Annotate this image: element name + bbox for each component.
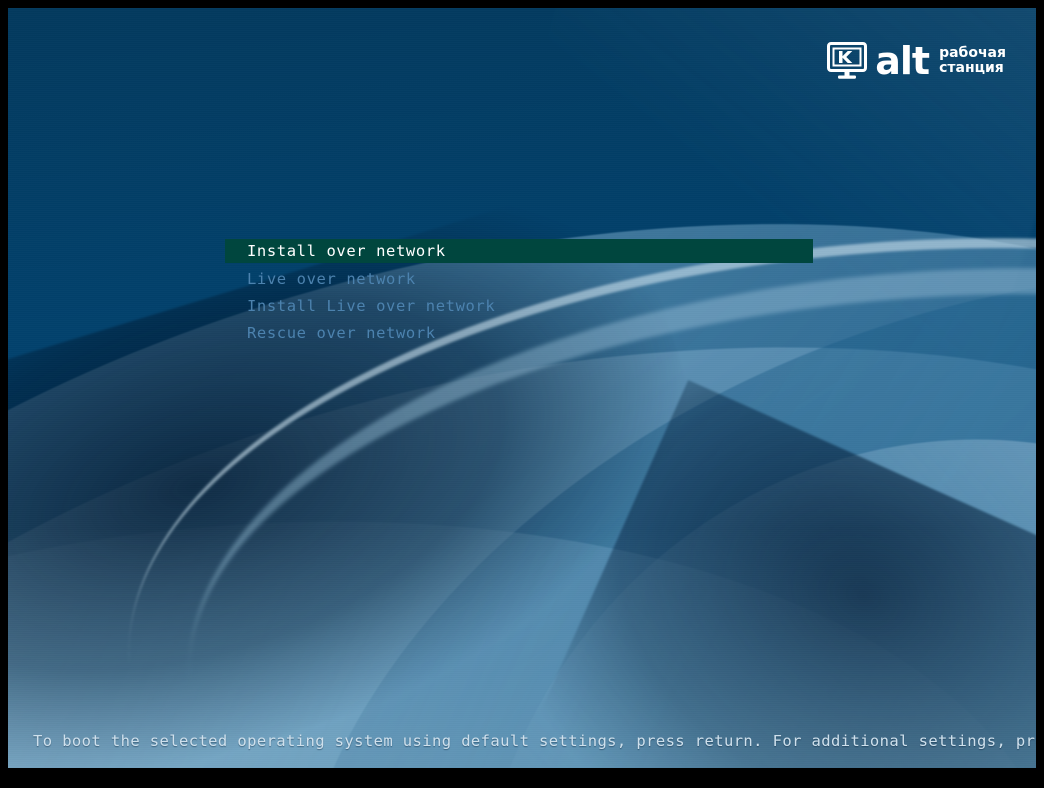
boot-menu-item-live-over-network[interactable]: Live over network	[225, 266, 813, 293]
boot-screen: alt рабочая станция Install over network…	[0, 0, 1044, 788]
alt-subtitle-line2: станция	[939, 60, 1004, 76]
alt-wordmark: alt	[875, 44, 929, 78]
monitor-k-icon	[827, 42, 867, 80]
alt-subtitle-line1: рабочая	[939, 45, 1006, 61]
boot-menu-item-install-over-network[interactable]: Install over network	[225, 239, 813, 263]
boot-menu[interactable]: Install over network Live over network I…	[225, 235, 813, 347]
alt-logo: alt рабочая станция	[827, 42, 1006, 80]
boot-menu-item-install-live-over-network[interactable]: Install Live over network	[225, 293, 813, 320]
boot-hint-text: To boot the selected operating system us…	[33, 732, 1036, 750]
boot-screen-canvas: alt рабочая станция Install over network…	[8, 8, 1036, 768]
boot-menu-item-rescue-over-network[interactable]: Rescue over network	[225, 320, 813, 347]
alt-subtitle: рабочая станция	[939, 46, 1006, 76]
